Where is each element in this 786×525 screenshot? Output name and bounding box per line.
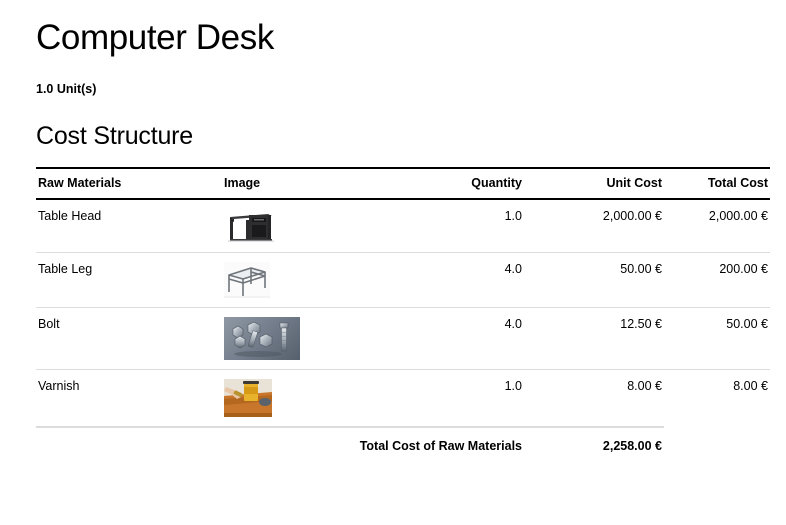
table-header: Raw Materials Image Quantity Unit Cost T… [36,168,770,199]
page-title: Computer Desk [36,0,750,60]
table-row: Table Head [36,199,770,253]
cell-quantity: 4.0 [404,308,524,370]
varnish-can-photo [224,379,272,417]
total-cost-value: 2,258.00 € [524,428,664,457]
cell-image [222,308,404,370]
cell-image [222,199,404,253]
cell-raw-material: Bolt [36,308,222,370]
table-row: Varnish [36,370,770,428]
document-page: Computer Desk 1.0 Unit(s) Cost Structure… [0,0,786,525]
cell-quantity: 1.0 [404,199,524,253]
column-header-unit-cost: Unit Cost [524,168,664,199]
cell-unit-cost: 50.00 € [524,253,664,308]
cell-raw-material: Varnish [36,370,222,428]
cell-unit-cost: 12.50 € [524,308,664,370]
footer-spacer-total [664,428,770,457]
section-title-cost-structure: Cost Structure [36,96,750,151]
cell-quantity: 1.0 [404,370,524,428]
column-header-image: Image [222,168,404,199]
column-header-raw-materials: Raw Materials [36,168,222,199]
cell-raw-material: Table Head [36,199,222,253]
cell-unit-cost: 2,000.00 € [524,199,664,253]
cell-total-cost: 200.00 € [664,253,770,308]
cost-structure-table: Raw Materials Image Quantity Unit Cost T… [36,167,770,457]
table-row: Bolt [36,308,770,370]
cell-image [222,253,404,308]
cell-total-cost: 8.00 € [664,370,770,428]
column-header-total-cost: Total Cost [664,168,770,199]
cell-quantity: 4.0 [404,253,524,308]
computer-desk-photo [224,209,276,243]
total-row: Total Cost of Raw Materials 2,258.00 € [36,428,770,457]
table-header-row: Raw Materials Image Quantity Unit Cost T… [36,168,770,199]
cell-raw-material: Table Leg [36,253,222,308]
cell-unit-cost: 8.00 € [524,370,664,428]
total-cost-label: Total Cost of Raw Materials [222,428,524,457]
cell-total-cost: 2,000.00 € [664,199,770,253]
bolts-and-nuts-photo [224,317,300,360]
footer-spacer-material [36,428,222,457]
cell-image [222,370,404,428]
table-footer: Total Cost of Raw Materials 2,258.00 € [36,427,770,457]
column-header-quantity: Quantity [404,168,524,199]
cell-total-cost: 50.00 € [664,308,770,370]
unit-quantity-label: 1.0 Unit(s) [36,60,750,96]
table-body: Table Head [36,199,770,427]
table-row: Table Leg [36,253,770,308]
table-frame-photo [224,262,270,298]
